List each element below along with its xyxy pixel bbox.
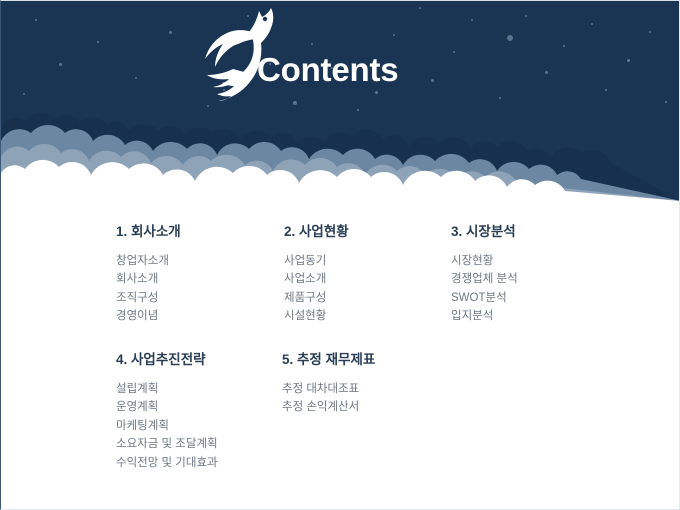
list-item[interactable]: 조직구성: [116, 289, 181, 308]
section-title: 3. 시장분석: [451, 225, 518, 239]
page-title: Contents: [257, 53, 398, 86]
star-icon: [59, 63, 62, 66]
contents-body: 1. 회사소개 창업자소개 회사소개 조직구성 경영이념 2. 사업현황 사업동…: [1, 201, 680, 510]
list-item[interactable]: 사업소개: [284, 270, 349, 289]
list-item[interactable]: 운영계획: [116, 398, 218, 417]
list-item[interactable]: 마케팅계획: [116, 417, 218, 436]
section-item-list: 창업자소개 회사소개 조직구성 경영이념: [116, 252, 181, 326]
contents-section-4: 4. 사업추진전략 설립계획 운영계획 마케팅계획 소요자금 및 조달계획 수익…: [116, 353, 218, 472]
section-item-list: 시장현황 경쟁업체 분석 SWOT분석 입지분석: [451, 252, 518, 326]
list-item[interactable]: 시장현황: [451, 252, 518, 271]
section-title: 2. 사업현황: [284, 225, 349, 239]
star-icon: [627, 59, 630, 62]
list-item[interactable]: 경쟁업체 분석: [451, 270, 518, 289]
star-icon: [35, 19, 37, 21]
star-icon: [431, 79, 434, 82]
contents-section-5: 5. 추정 재무제표 추정 대차대조표 추정 손익계산서: [282, 353, 375, 417]
cloud-decoration: [1, 97, 680, 201]
list-item[interactable]: 입지분석: [451, 307, 518, 326]
star-icon: [393, 34, 395, 36]
section-item-list: 추정 대차대조표 추정 손익계산서: [282, 380, 375, 417]
section-title: 5. 추정 재무제표: [282, 353, 375, 367]
list-item[interactable]: 시설현황: [284, 307, 349, 326]
star-icon: [563, 45, 565, 47]
star-icon: [135, 77, 137, 79]
star-icon: [471, 19, 473, 21]
list-item[interactable]: 사업동기: [284, 252, 349, 271]
star-icon: [525, 15, 527, 17]
star-icon: [419, 7, 421, 9]
section-title: 1. 회사소개: [116, 225, 181, 239]
star-icon: [591, 23, 593, 25]
star-icon: [453, 51, 455, 53]
section-item-list: 사업동기 사업소개 제품구성 시설현황: [284, 252, 349, 326]
list-item[interactable]: 수익전망 및 기대효과: [116, 454, 218, 473]
star-icon: [375, 91, 378, 94]
list-item[interactable]: 회사소개: [116, 270, 181, 289]
star-icon: [311, 43, 313, 45]
star-icon: [97, 41, 99, 43]
contents-section-2: 2. 사업현황 사업동기 사업소개 제품구성 시설현황: [284, 225, 349, 326]
list-item[interactable]: 소요자금 및 조달계획: [116, 435, 218, 454]
contents-section-1: 1. 회사소개 창업자소개 회사소개 조직구성 경영이념: [116, 225, 181, 326]
star-icon: [649, 31, 651, 33]
list-item[interactable]: 경영이념: [116, 307, 181, 326]
section-item-list: 설립계획 운영계획 마케팅계획 소요자금 및 조달계획 수익전망 및 기대효과: [116, 380, 218, 473]
list-item[interactable]: 제품구성: [284, 289, 349, 308]
contents-section-3: 3. 시장분석 시장현황 경쟁업체 분석 SWOT분석 입지분석: [451, 225, 518, 326]
list-item[interactable]: 설립계획: [116, 380, 218, 399]
list-item[interactable]: SWOT분석: [451, 289, 518, 308]
star-icon: [23, 93, 25, 95]
list-item[interactable]: 창업자소개: [116, 252, 181, 271]
star-icon: [507, 35, 513, 41]
presentation-slide: Contents 1. 회사소개 창업자소개: [0, 0, 680, 510]
list-item[interactable]: 추정 손익계산서: [282, 398, 375, 417]
star-icon: [169, 31, 172, 34]
list-item[interactable]: 추정 대차대조표: [282, 380, 375, 399]
star-icon: [545, 71, 548, 74]
star-icon: [605, 89, 607, 91]
section-title: 4. 사업추진전략: [116, 353, 218, 367]
